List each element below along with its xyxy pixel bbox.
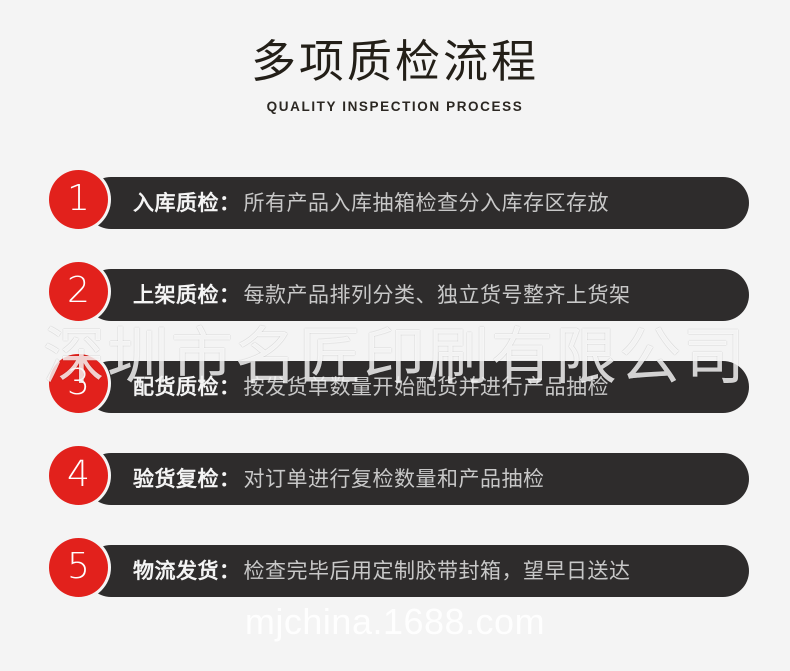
step-description: 所有产品入库抽箱检查分入库存区存放 — [244, 192, 610, 215]
steps-list: 入库质检：所有产品入库抽箱检查分入库存区存放 1 上架质检：每款产品排列分类、独… — [0, 155, 790, 615]
step-number: 5 — [67, 549, 90, 585]
step-number: 1 — [67, 181, 90, 217]
step-number-badge: 2 — [49, 262, 108, 321]
page-header: 多项质检流程 QUALITY INSPECTION PROCESS — [0, 0, 790, 114]
step-number: 4 — [67, 457, 90, 493]
step-number-badge: 4 — [49, 446, 108, 505]
step-number-badge: 1 — [49, 170, 108, 229]
step-bar-text: 物流发货：检查完毕后用定制胶带封箱，望早日送达 — [85, 561, 631, 582]
step-number: 2 — [67, 273, 90, 309]
step-label: 验货复检： — [133, 468, 241, 491]
step-description: 每款产品排列分类、独立货号整齐上货架 — [244, 284, 631, 307]
step-bar: 验货复检：对订单进行复检数量和产品抽检 — [85, 453, 749, 505]
step-bar: 入库质检：所有产品入库抽箱检查分入库存区存放 — [85, 177, 749, 229]
step-bar-text: 验货复检：对订单进行复检数量和产品抽检 — [85, 469, 545, 490]
step-bar: 配货质检：按发货单数量开始配货并进行产品抽检 — [85, 361, 749, 413]
step-description: 按发货单数量开始配货并进行产品抽检 — [244, 376, 610, 399]
step-label: 配货质检： — [133, 376, 241, 399]
step-label: 物流发货： — [133, 560, 241, 583]
step-description: 检查完毕后用定制胶带封箱，望早日送达 — [244, 560, 631, 583]
step-label: 上架质检： — [133, 284, 241, 307]
step-number-badge: 3 — [49, 354, 108, 413]
step-row: 配货质检：按发货单数量开始配货并进行产品抽检 3 — [0, 339, 790, 431]
step-bar-text: 上架质检：每款产品排列分类、独立货号整齐上货架 — [85, 285, 631, 306]
step-description: 对订单进行复检数量和产品抽检 — [244, 468, 545, 491]
step-row: 上架质检：每款产品排列分类、独立货号整齐上货架 2 — [0, 247, 790, 339]
step-bar-text: 入库质检：所有产品入库抽箱检查分入库存区存放 — [85, 193, 609, 214]
page-subtitle: QUALITY INSPECTION PROCESS — [0, 88, 790, 114]
step-bar-text: 配货质检：按发货单数量开始配货并进行产品抽检 — [85, 377, 609, 398]
quality-inspection-process-page: 多项质检流程 QUALITY INSPECTION PROCESS 入库质检：所… — [0, 0, 790, 671]
step-number-badge: 5 — [49, 538, 108, 597]
step-row: 物流发货：检查完毕后用定制胶带封箱，望早日送达 5 — [0, 523, 790, 615]
step-row: 验货复检：对订单进行复检数量和产品抽检 4 — [0, 431, 790, 523]
step-label: 入库质检： — [133, 192, 241, 215]
page-title: 多项质检流程 — [0, 0, 790, 88]
step-number: 3 — [67, 365, 90, 401]
step-bar: 物流发货：检查完毕后用定制胶带封箱，望早日送达 — [85, 545, 749, 597]
step-row: 入库质检：所有产品入库抽箱检查分入库存区存放 1 — [0, 155, 790, 247]
step-bar: 上架质检：每款产品排列分类、独立货号整齐上货架 — [85, 269, 749, 321]
